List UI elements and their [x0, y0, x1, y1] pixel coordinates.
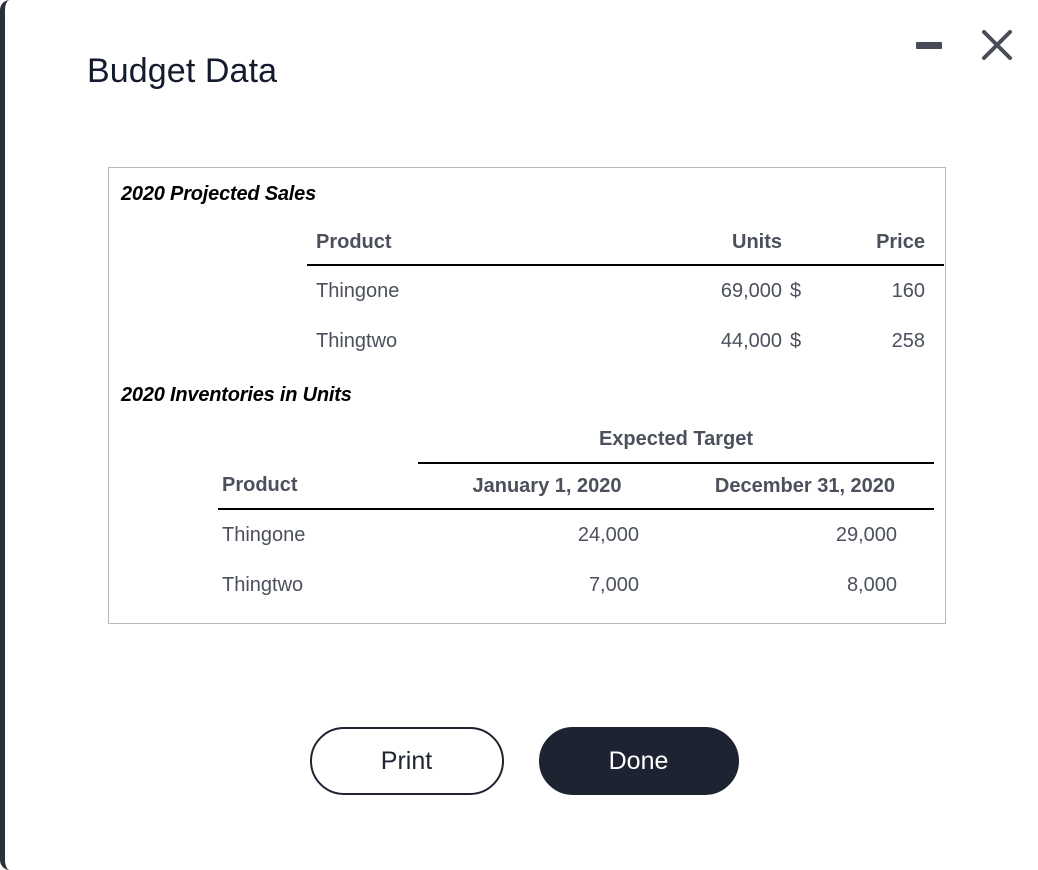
table-header-row: Product Units Price [307, 220, 944, 265]
column-header-product: Product [218, 463, 418, 509]
column-header-product: Product [307, 220, 550, 265]
window-controls [908, 24, 1018, 66]
column-header-price: Price [838, 220, 944, 265]
dialog-button-row: Print Done [5, 727, 1038, 795]
table-row: Thingtwo 7,000 8,000 [218, 560, 934, 610]
close-icon [980, 28, 1014, 62]
cell-price: 160 [838, 265, 944, 316]
page-title: Budget Data [87, 52, 277, 91]
cell-product: Thingone [218, 509, 418, 560]
cell-price: 258 [838, 316, 944, 366]
cell-units: 44,000 [550, 316, 782, 366]
cell-product: Thingone [307, 265, 550, 316]
minimize-button[interactable] [908, 24, 950, 66]
cell-currency: $ [782, 316, 838, 366]
cell-december-units: 29,000 [676, 509, 934, 560]
cell-product: Thingtwo [218, 560, 418, 610]
table-row: Thingtwo 44,000 $ 258 [307, 316, 944, 366]
cell-january-units: 24,000 [418, 509, 676, 560]
column-header-december: December 31, 2020 [676, 463, 934, 509]
column-header-january: January 1, 2020 [418, 463, 676, 509]
cell-product: Thingtwo [307, 316, 550, 366]
cell-units: 69,000 [550, 265, 782, 316]
budget-data-card: 2020 Projected Sales Product Units Price… [108, 167, 946, 624]
group-header-expected-target: Expected Target [418, 416, 934, 463]
inventory-section-title: 2020 Inventories in Units [121, 384, 352, 407]
cell-currency: $ [782, 265, 838, 316]
table-row: Thingone 69,000 $ 160 [307, 265, 944, 316]
projected-sales-table: Product Units Price Thingone 69,000 $ 16… [307, 220, 944, 366]
inventories-table: Expected Target Product January 1, 2020 … [218, 416, 934, 610]
table-header-row: Product January 1, 2020 December 31, 202… [218, 463, 934, 509]
column-header-units: Units [550, 220, 782, 265]
sales-section-title: 2020 Projected Sales [121, 183, 316, 206]
column-header-currency-spacer [782, 220, 838, 265]
cell-december-units: 8,000 [676, 560, 934, 610]
window-titlebar: Budget Data [5, 0, 1038, 135]
done-button[interactable]: Done [539, 727, 739, 795]
close-button[interactable] [976, 24, 1018, 66]
budget-data-window: Budget Data 2020 Projected Sales [0, 0, 1038, 870]
cell-january-units: 7,000 [418, 560, 676, 610]
minimize-icon [916, 42, 942, 49]
table-row: Thingone 24,000 29,000 [218, 509, 934, 560]
group-header-spacer [218, 416, 418, 463]
print-button[interactable]: Print [310, 727, 504, 795]
table-group-header-row: Expected Target [218, 416, 934, 463]
